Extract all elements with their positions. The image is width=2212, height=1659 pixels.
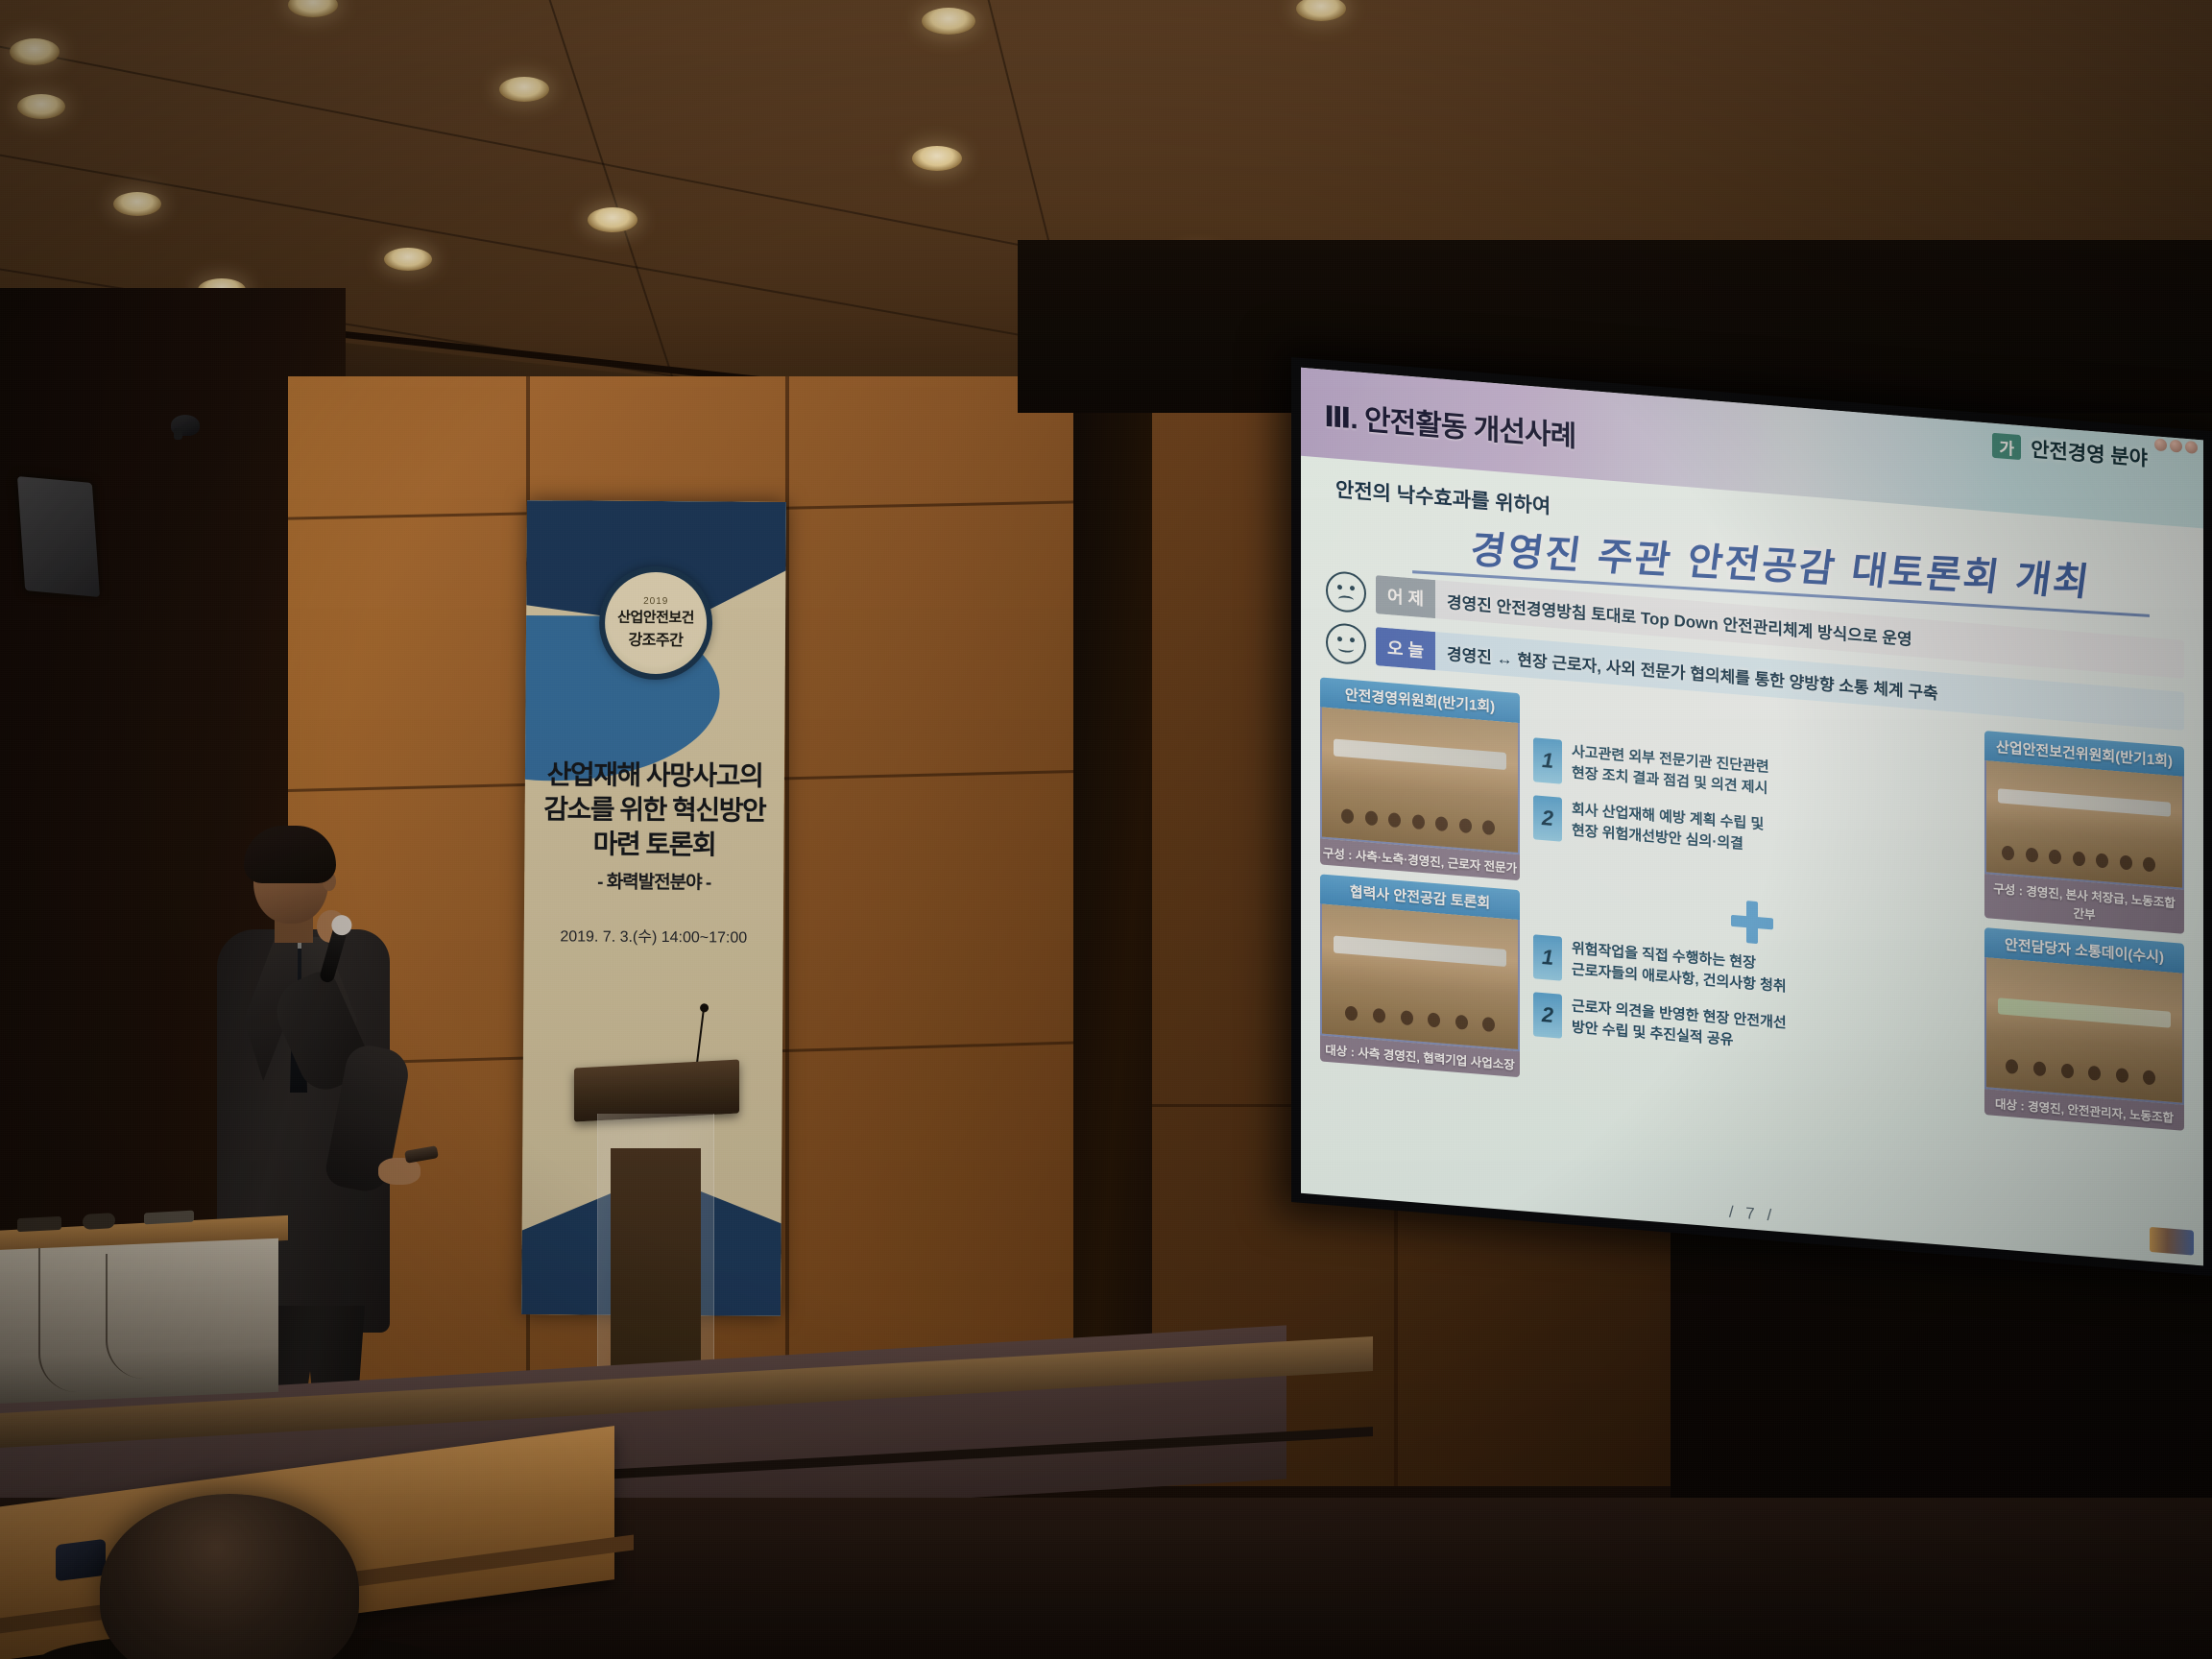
banner-title: 산업재해 사망사고의 감소를 위한 혁신방안 마련 토론회 (532, 757, 777, 862)
slide-decoration-icon (2154, 438, 2198, 454)
presentation-clicker-icon (404, 1145, 439, 1164)
wall-pillar (1073, 355, 1156, 1479)
bullet-number: 1 (1533, 934, 1562, 980)
podium-top (574, 1059, 739, 1121)
banner-title-line-1: 산업재해 사망사고의 (533, 757, 777, 794)
bullet-number: 2 (1533, 992, 1562, 1038)
presenter-hair (244, 826, 336, 883)
sad-face-icon (1326, 570, 1366, 613)
quadrant-grid: 안전경영위원회(반기1회) 구성 : 사측·노측·경영진, 근로자 전문가 (1320, 677, 2184, 1130)
ceiling-downlight (288, 0, 338, 17)
ceiling-downlight (922, 8, 975, 35)
slide-page-number: / 7 / (1729, 1203, 1775, 1226)
bullet-text: 근로자 의견을 반영한 현장 안전개선 방안 수립 및 추진실적 공유 (1572, 996, 1787, 1054)
comparison-key-past: 어 제 (1376, 575, 1435, 618)
banner-title-line-3: 마련 토론회 (532, 827, 776, 863)
av-equipment-item (17, 1216, 61, 1232)
slide-section-tag: 가 안전경영 분야 (1992, 431, 2148, 472)
presentation-slide: Ⅲ. 안전활동 개선사례 가 안전경영 분야 안전의 낙수효과를 위하여 경영진… (1301, 368, 2203, 1266)
quadrant-photo (1984, 957, 2184, 1105)
quadrant-photo (1320, 903, 1520, 1051)
happy-face-icon (1326, 622, 1366, 665)
bullet-text: 사고관련 외부 전문기관 진단관련 현장 조치 결과 점검 및 의견 제시 (1572, 741, 1769, 799)
slide-title: Ⅲ. 안전활동 개선사례 (1324, 393, 1575, 455)
emblem-line-1: 산업안전보건 (617, 607, 694, 628)
ceiling-downlight (384, 248, 432, 271)
slide-body: 안전의 낙수효과를 위하여 경영진 주관 안전공감 대토론회 개최 어 제 경영… (1301, 456, 2203, 1266)
quadrant-photo (1984, 760, 2184, 890)
quadrant-card-safety-management-committee: 안전경영위원회(반기1회) 구성 : 사측·노측·경영진, 근로자 전문가 (1320, 677, 1520, 880)
slide-tag-marker: 가 (1992, 433, 2021, 460)
conference-hall-photo: Ⅲ. 안전활동 개선사례 가 안전경영 분야 안전의 낙수효과를 위하여 경영진… (0, 0, 2212, 1659)
quadrant-card-industrial-safety-health-committee: 산업안전보건위원회(반기1회) 구성 : 경영진, 본사 처장급, 노동조합 간… (1984, 731, 2184, 934)
cctv-camera-icon (171, 415, 200, 436)
ceiling-downlight (588, 207, 637, 232)
quadrant-photo (1320, 707, 1520, 854)
audience-device (56, 1539, 106, 1581)
ceiling-downlight (912, 146, 962, 171)
banner-emblem: 2019 산업안전보건 강조주간 (599, 566, 713, 681)
ceiling-downlight (1296, 0, 1346, 21)
av-equipment-item (83, 1213, 115, 1230)
emblem-line-2: 강조주간 (628, 627, 683, 650)
banner-title-line-2: 감소를 위한 혁신방안 (533, 792, 777, 829)
banner-subtitle: - 화력발전분야 - (524, 867, 783, 895)
organization-logo (2150, 1227, 2194, 1256)
pa-speaker-box (17, 476, 100, 597)
slide-tag-label: 안전경영 분야 (2031, 434, 2148, 472)
bullet-text: 위험작업을 직접 수행하는 현장 근로자들의 애로사항, 건의사항 청취 (1572, 938, 1787, 997)
ceiling-downlight (10, 38, 60, 65)
emblem-year: 2019 (643, 596, 668, 607)
banner-date: 2019. 7. 3.(수) 14:00~17:00 (524, 923, 783, 948)
quadrant-card-partner-safety-forum: 협력사 안전공감 토론회 대상 : 사측 경영진, 협력기업 사업소장 (1320, 874, 1520, 1077)
bullet-number: 2 (1533, 795, 1562, 841)
plus-icon (1731, 900, 1773, 946)
bullet-text: 회사 산업재해 예방 계획 수립 및 현장 위험개선방안 심의·의결 (1572, 799, 1764, 856)
bullet-number: 1 (1533, 737, 1562, 783)
quadrant-bullets-top: 1 사고관련 외부 전문기관 진단관련 현장 조치 결과 점검 및 의견 제시 … (1527, 694, 1977, 918)
projection-screen: Ⅲ. 안전활동 개선사례 가 안전경영 분야 안전의 낙수효과를 위하여 경영진… (1291, 357, 2212, 1276)
ceiling-downlight (17, 94, 65, 119)
av-cable (38, 1248, 115, 1392)
comparison-key-today: 오 늘 (1376, 627, 1435, 670)
ceiling-downlight (113, 192, 161, 216)
av-cable (106, 1254, 163, 1379)
ceiling-downlight (499, 77, 549, 102)
quadrant-card-safety-officer-communication-day: 안전담당자 소통데이(수시) 대상 : 경영진, 안전관리자, 노동조합 (1984, 927, 2184, 1131)
